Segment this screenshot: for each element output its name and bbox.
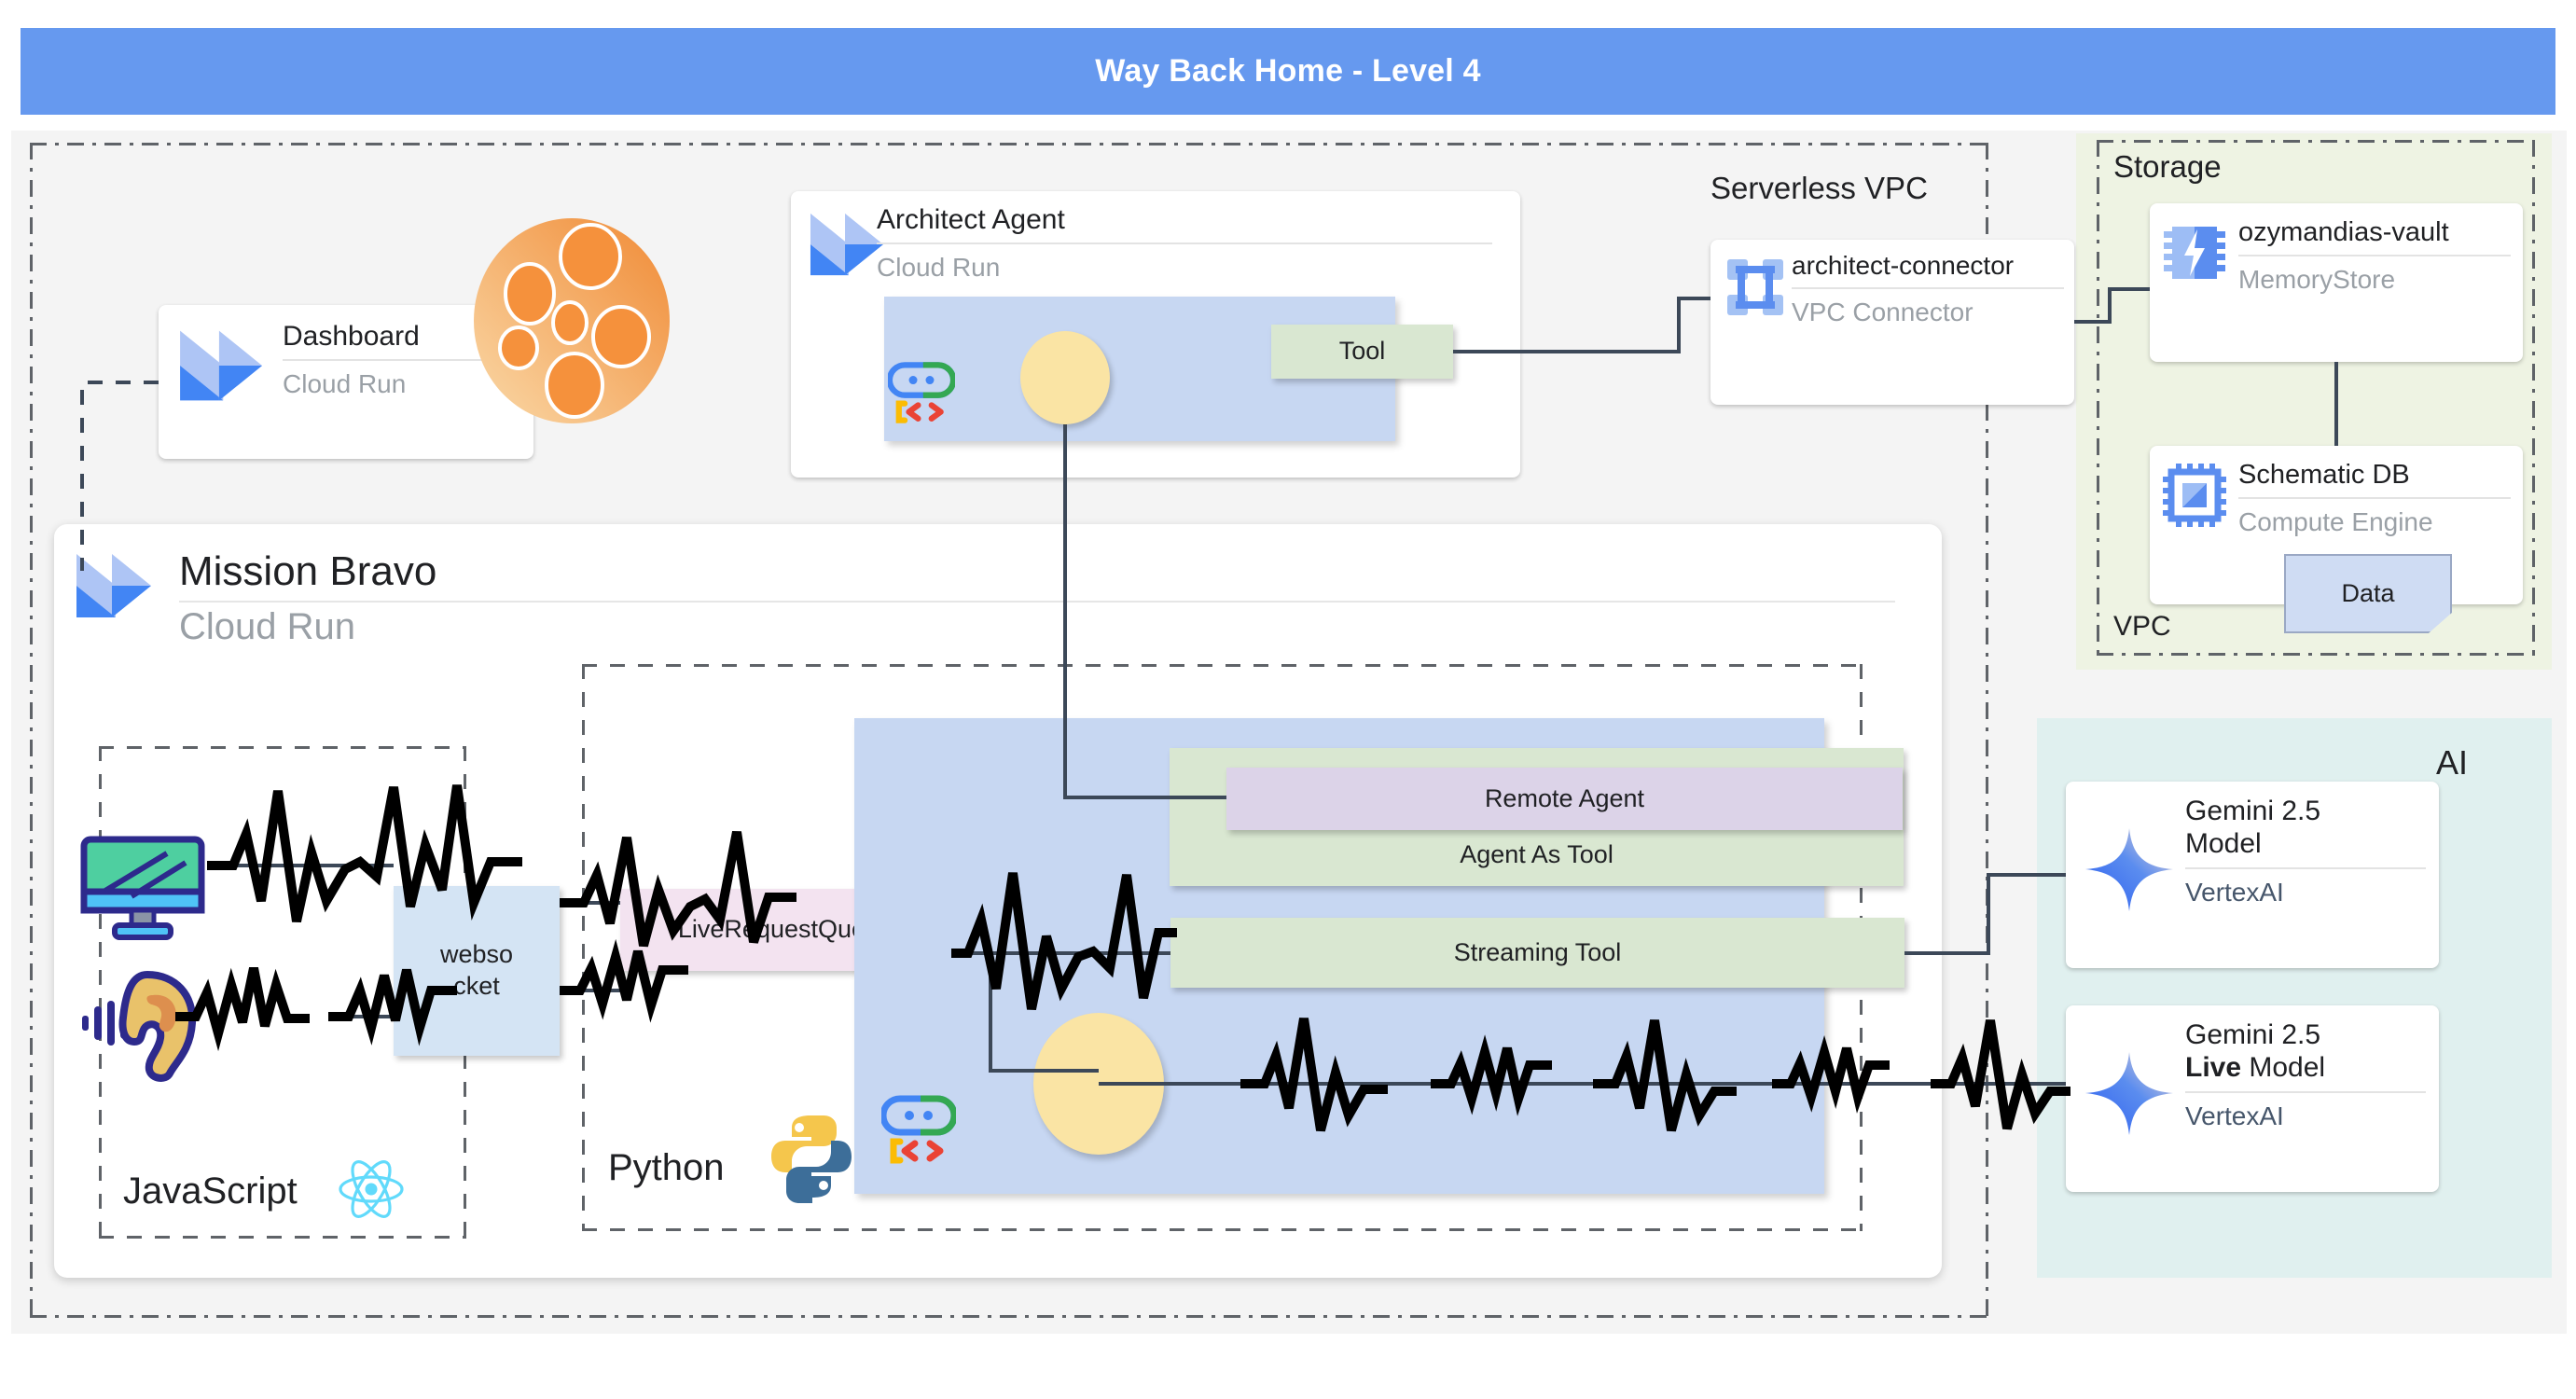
streaming-tool-box[interactable]: Streaming Tool <box>1170 918 1904 988</box>
cloud-run-icon <box>173 325 267 411</box>
architect-agent-node-circle <box>1020 331 1110 424</box>
page-title-bar: Way Back Home - Level 4 <box>21 28 2555 115</box>
python-icon <box>765 1110 858 1208</box>
gemini-spark-icon <box>2078 821 2181 923</box>
compute-engine-icon <box>2162 463 2227 533</box>
data-note-label: Data <box>2341 579 2394 608</box>
gemini-model-title-line2: Model <box>2185 828 2262 859</box>
adk-robot-icon <box>881 1093 956 1170</box>
architect-agent-title: Architect Agent <box>877 203 1492 244</box>
schematic-db-title: Schematic DB <box>2238 459 2511 499</box>
gemini-model-subtitle: VertexAI <box>2185 869 2426 907</box>
gemini-live-model-text: Gemini 2.5 Live Model VertexAI <box>2185 1018 2426 1131</box>
monitor-icon <box>77 833 208 949</box>
cloud-run-icon <box>805 208 887 285</box>
storage-vpc-label: VPC <box>2113 611 2171 643</box>
cloud-run-icon <box>71 548 155 628</box>
gemini-live-model-subtitle: VertexAI <box>2185 1093 2426 1131</box>
streaming-tool-label: Streaming Tool <box>1454 937 1622 969</box>
memorystore-icon <box>2162 220 2227 290</box>
page-title: Way Back Home - Level 4 <box>1095 53 1480 90</box>
gemini-model-title: Gemini 2.5 Model <box>2185 795 2426 869</box>
storage-group-label: Storage <box>2113 149 2222 185</box>
websocket-label-line1: webso <box>440 939 513 971</box>
react-icon <box>336 1157 407 1226</box>
agent-node-circle <box>1033 1013 1164 1155</box>
javascript-group-label: JavaScript <box>123 1170 298 1212</box>
adk-robot-icon <box>888 360 955 430</box>
architect-agent-text: Architect Agent Cloud Run <box>877 203 1492 283</box>
gemini-model-title-line1: Gemini 2.5 <box>2185 796 2320 826</box>
cookie-decoration-icon <box>472 217 672 429</box>
websocket-box[interactable]: webso cket <box>394 886 560 1056</box>
agent-as-tool-label: Agent As Tool <box>1460 839 1613 871</box>
gemini-live-title-bold: Live <box>2185 1052 2241 1083</box>
mission-bravo-subtitle: Cloud Run <box>179 606 355 648</box>
tool-box[interactable]: Tool <box>1271 325 1453 379</box>
data-note-box[interactable]: Data <box>2284 554 2452 633</box>
schematic-db-subtitle: Compute Engine <box>2238 499 2511 537</box>
mission-bravo-title: Mission Bravo <box>179 548 1895 603</box>
ear-icon <box>78 965 209 1087</box>
architect-connector-text: architect-connector VPC Connector <box>1792 250 2064 327</box>
gemini-model-text: Gemini 2.5 Model VertexAI <box>2185 795 2426 907</box>
gemini-live-title-line1: Gemini 2.5 <box>2185 1019 2320 1050</box>
ozymandias-vault-subtitle: MemoryStore <box>2238 256 2511 295</box>
gemini-live-model-title: Gemini 2.5 Live Model <box>2185 1018 2426 1093</box>
gemini-spark-icon <box>2078 1045 2181 1147</box>
ozymandias-vault-title: ozymandias-vault <box>2238 216 2511 256</box>
vpc-connector-icon <box>1722 254 1789 326</box>
websocket-label-line2: cket <box>453 971 500 1003</box>
remote-agent-box[interactable]: Remote Agent <box>1226 768 1903 830</box>
architect-connector-subtitle: VPC Connector <box>1792 289 2064 327</box>
python-group-label: Python <box>608 1147 725 1189</box>
remote-agent-label: Remote Agent <box>1485 783 1644 815</box>
ozymandias-vault-text: ozymandias-vault MemoryStore <box>2238 216 2511 295</box>
tool-label: Tool <box>1339 336 1386 367</box>
gemini-live-title-rest: Model <box>2241 1052 2325 1083</box>
architect-connector-title: architect-connector <box>1792 250 2064 289</box>
architect-agent-subtitle: Cloud Run <box>877 244 1492 283</box>
ai-group-label: AI <box>2436 743 2468 783</box>
schematic-db-text: Schematic DB Compute Engine <box>2238 459 2511 537</box>
serverless-vpc-label: Serverless VPC <box>1710 171 1928 206</box>
